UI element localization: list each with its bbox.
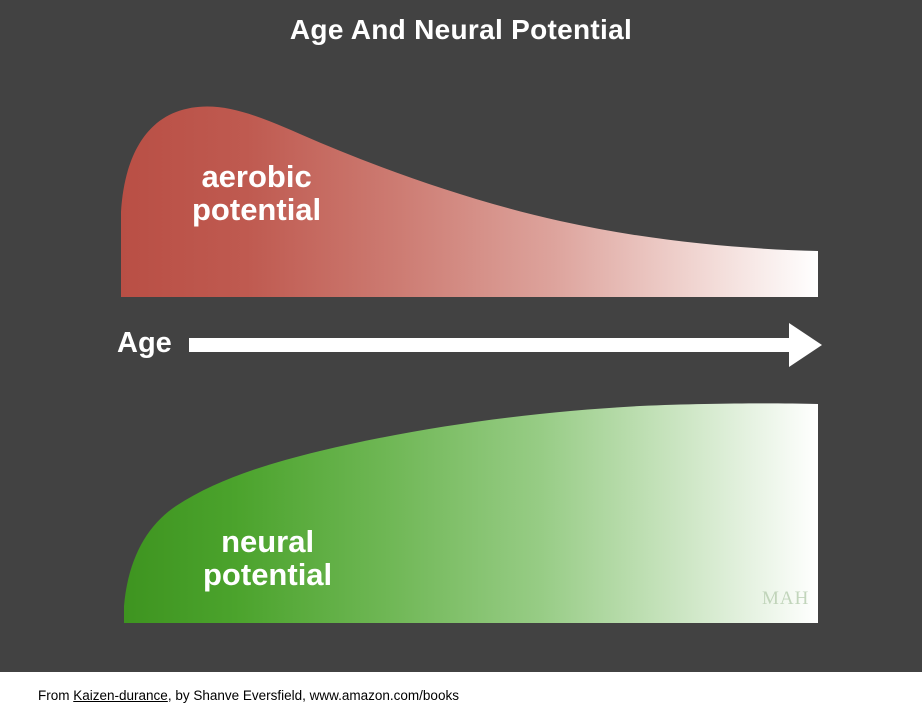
caption-prefix: From bbox=[38, 688, 73, 703]
neural-potential-label: neural potential bbox=[203, 525, 332, 592]
aerobic-label-line1: aerobic bbox=[201, 159, 311, 194]
source-caption: From Kaizen-durance, by Shanve Eversfiel… bbox=[38, 688, 459, 703]
neural-label-line1: neural bbox=[221, 524, 314, 559]
chart-panel: Age And Neural Potential bbox=[0, 0, 922, 672]
neural-label-line2: potential bbox=[203, 557, 332, 592]
aerobic-label-line2: potential bbox=[192, 192, 321, 227]
age-axis-label: Age bbox=[117, 327, 172, 360]
age-axis-arrow bbox=[189, 323, 822, 367]
caption-rest: , by Shanve Eversfield, www.amazon.com/b… bbox=[168, 688, 459, 703]
caption-source-title: Kaizen-durance bbox=[73, 688, 168, 703]
figure-root: Age And Neural Potential bbox=[0, 0, 922, 711]
watermark-mah: MAH bbox=[762, 588, 809, 610]
aerobic-potential-label: aerobic potential bbox=[192, 160, 321, 227]
